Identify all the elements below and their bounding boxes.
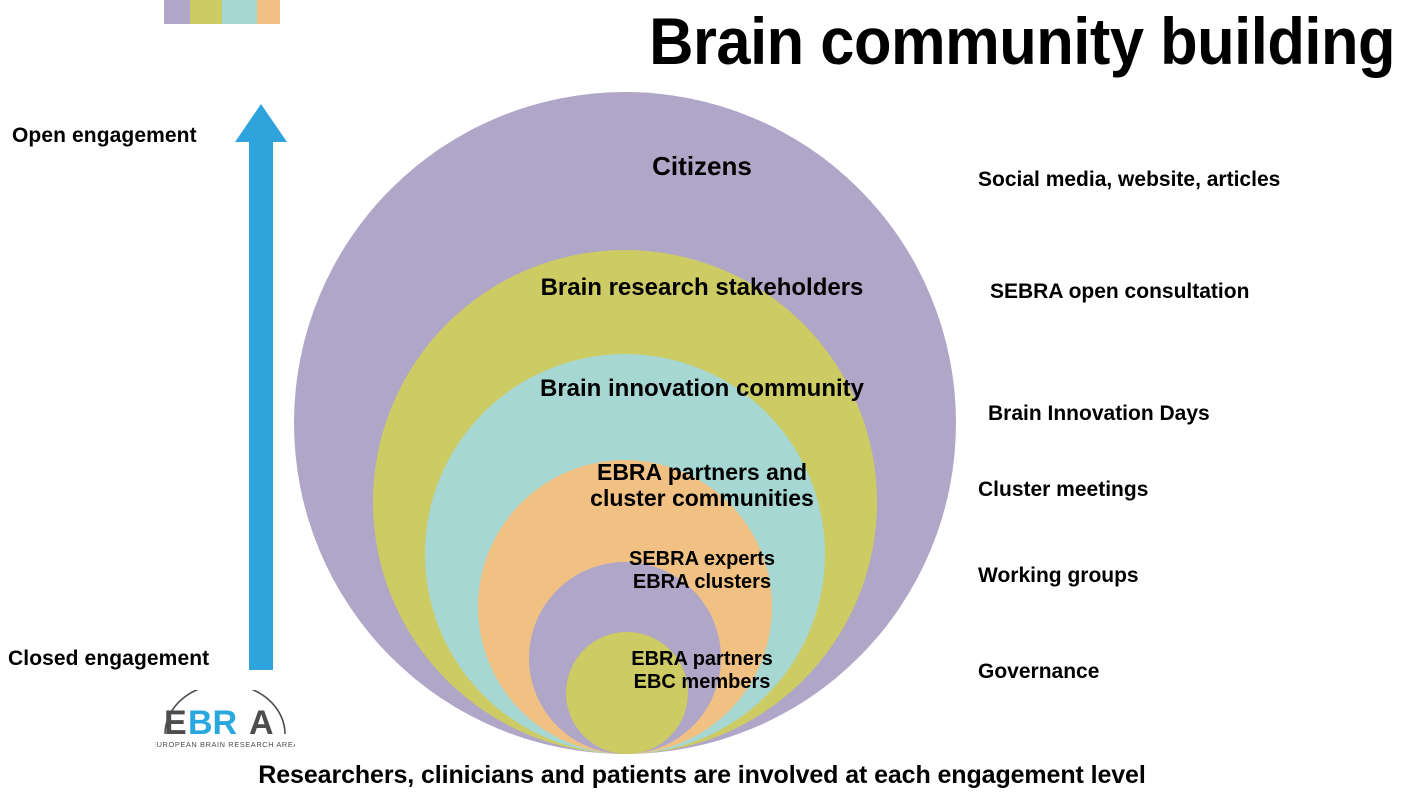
svg-text:A: A xyxy=(249,704,274,742)
activity-label-5: Working groups xyxy=(978,564,1139,588)
activity-label-3: Brain Innovation Days xyxy=(988,402,1210,426)
activity-label-1: Social media, website, articles xyxy=(978,168,1280,192)
activity-label-4: Cluster meetings xyxy=(978,478,1148,502)
circle-ring-6 xyxy=(566,632,688,754)
nested-circles-diagram: CitizensBrain research stakeholdersBrain… xyxy=(0,0,1404,798)
bottom-caption: Researchers, clinicians and patients are… xyxy=(0,761,1404,790)
slide-canvas: Brain community building Open engagement… xyxy=(0,0,1404,798)
svg-text:BR: BR xyxy=(188,704,237,742)
ebra-logo: E BR A EUROPEAN BRAIN RESEARCH AREA xyxy=(155,690,295,752)
svg-text:EUROPEAN BRAIN RESEARCH AREA: EUROPEAN BRAIN RESEARCH AREA xyxy=(155,740,295,749)
activity-label-2: SEBRA open consultation xyxy=(990,280,1249,304)
activity-label-6: Governance xyxy=(978,660,1099,684)
svg-text:E: E xyxy=(164,704,187,742)
